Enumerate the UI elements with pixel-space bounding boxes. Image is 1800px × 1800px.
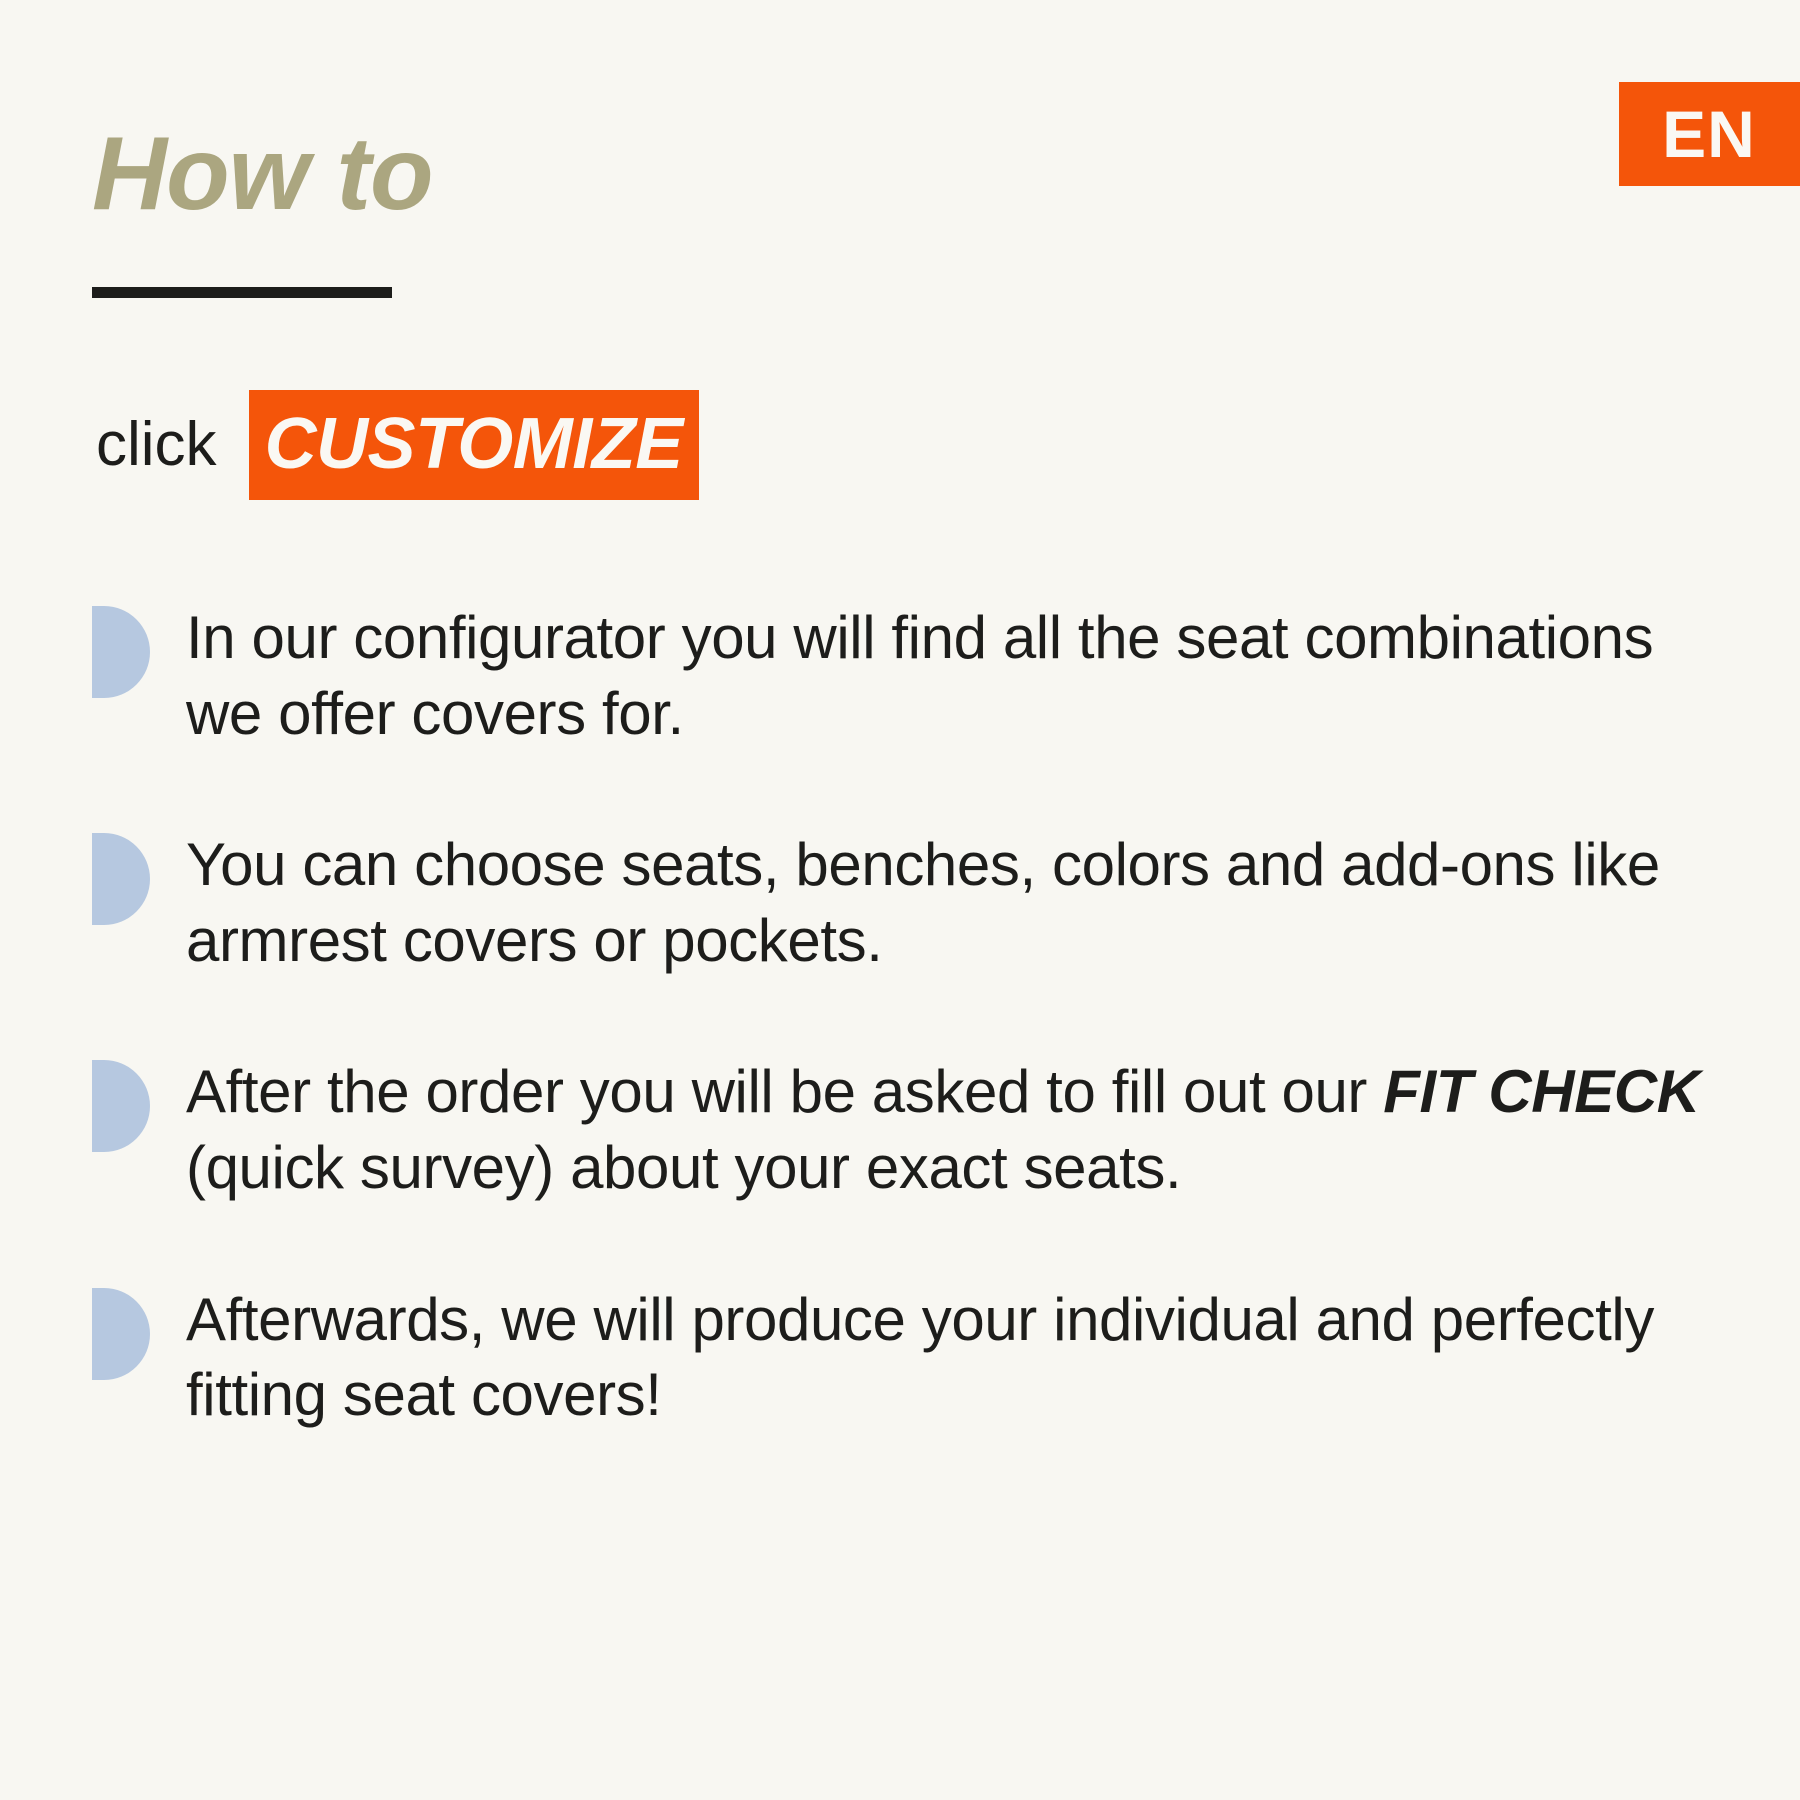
step-3-part-plain-tail: (quick survey) about your exact seats. — [186, 1134, 1181, 1201]
list-item: After the order you will be asked to fil… — [92, 1054, 1732, 1205]
click-prefix-label: click — [96, 414, 217, 476]
step-4-text: Afterwards, we will produce your individ… — [186, 1282, 1716, 1433]
step-4-part-plain: Afterwards, we will produce your individ… — [186, 1286, 1654, 1429]
customize-button[interactable]: CUSTOMIZE — [249, 390, 699, 500]
list-item: Afterwards, we will produce your individ… — [92, 1282, 1732, 1433]
title-underline-rule — [92, 287, 392, 298]
step-1-text: In our configurator you will find all th… — [186, 600, 1716, 751]
fit-check-emphasis: FIT CHECK — [1383, 1058, 1699, 1125]
step-3-text: After the order you will be asked to fil… — [186, 1054, 1716, 1205]
half-pill-bullet-icon — [92, 606, 150, 698]
half-pill-bullet-icon — [92, 1060, 150, 1152]
step-2-text: You can choose seats, benches, colors an… — [186, 827, 1716, 978]
list-item: In our configurator you will find all th… — [92, 600, 1732, 751]
click-customize-line: click CUSTOMIZE — [96, 390, 699, 500]
language-badge[interactable]: EN — [1619, 82, 1800, 186]
step-2-part-plain: You can choose seats, benches, colors an… — [186, 831, 1660, 974]
step-3-part-plain-lead: After the order you will be asked to fil… — [186, 1058, 1383, 1125]
language-badge-label: EN — [1662, 101, 1756, 167]
list-item: You can choose seats, benches, colors an… — [92, 827, 1732, 978]
half-pill-bullet-icon — [92, 833, 150, 925]
instruction-card: EN How to click CUSTOMIZE In our configu… — [0, 0, 1800, 1800]
half-pill-bullet-icon — [92, 1288, 150, 1380]
title-block: How to — [92, 120, 433, 298]
step-1-part-plain: In our configurator you will find all th… — [186, 604, 1653, 747]
page-title: How to — [92, 120, 433, 229]
steps-list: In our configurator you will find all th… — [92, 600, 1732, 1433]
